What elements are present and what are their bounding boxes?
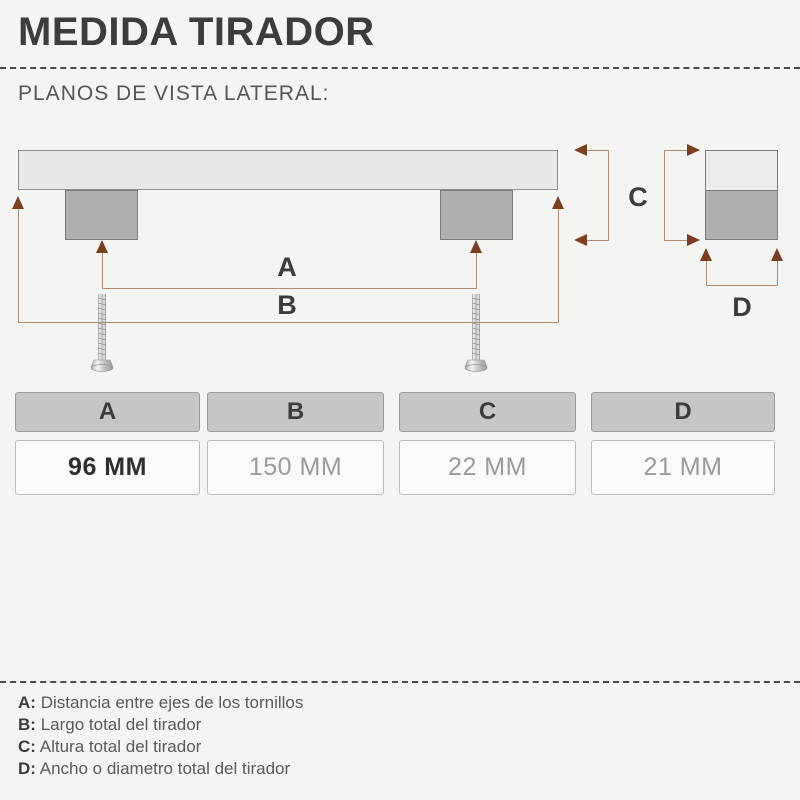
legend-item: A: Distancia entre ejes de los tornillos [18, 692, 303, 714]
measurement-sheet: MEDIDA TIRADOR PLANOS DE VISTA LATERAL: [0, 0, 800, 800]
legend-key-b: B: [18, 715, 36, 734]
screw-left [89, 294, 115, 376]
page-title: MEDIDA TIRADOR [18, 10, 375, 55]
dim-c-arm-top [585, 150, 609, 151]
dim-d-leader-right [777, 260, 778, 286]
table-value-d[interactable]: 21 MM [591, 440, 775, 495]
divider-top [0, 67, 800, 69]
legend-key-d: D: [18, 759, 36, 778]
dim-d-arm-top [664, 150, 688, 151]
dim-a-leader-right [476, 252, 477, 289]
legend-item: C: Altura total del tirador [18, 736, 303, 758]
dim-c-arrow-bottom [574, 234, 587, 246]
legend-key-a: A: [18, 693, 36, 712]
legend-item: B: Largo total del tirador [18, 714, 303, 736]
dim-c-line [608, 150, 609, 241]
handle-side-leg [705, 190, 778, 240]
table-value-a[interactable]: 96 MM [15, 440, 200, 495]
divider-bottom [0, 681, 800, 683]
dim-b-arrow-left [12, 196, 24, 209]
dim-a-leader-left [102, 252, 103, 289]
handle-leg-left [65, 190, 138, 240]
legend-text-b: Largo total del tirador [41, 715, 202, 734]
dim-a-arrow-right [470, 240, 482, 253]
table-header-d: D [591, 392, 775, 432]
dim-d-arrow-bottom [687, 234, 700, 246]
dim-a-line [102, 288, 477, 289]
legend-text-a: Distancia entre ejes de los tornillos [41, 693, 304, 712]
table-header-c: C [399, 392, 576, 432]
handle-leg-right [440, 190, 513, 240]
table-header-b: B [207, 392, 384, 432]
screw-right [463, 294, 489, 376]
dim-d-leader-vertical [664, 150, 665, 241]
dim-a-label: A [265, 252, 309, 283]
table-value-c[interactable]: 22 MM [399, 440, 576, 495]
dim-a-arrow-left [96, 240, 108, 253]
table-value-b[interactable]: 150 MM [207, 440, 384, 495]
dim-c-arrow-top [574, 144, 587, 156]
table-header-a: A [15, 392, 200, 432]
dim-d-arrow-right [771, 248, 783, 261]
legend-key-c: C: [18, 737, 36, 756]
dim-b-leader-left [18, 208, 19, 323]
page-subtitle: PLANOS DE VISTA LATERAL: [18, 82, 330, 106]
dim-b-leader-right [558, 208, 559, 323]
dim-b-label: B [265, 290, 309, 321]
dim-b-arrow-right [552, 196, 564, 209]
dim-c-arm-bottom [585, 240, 609, 241]
dim-d-label: D [720, 292, 764, 323]
legend: A: Distancia entre ejes de los tornillos… [18, 692, 303, 780]
handle-bar-front [18, 150, 558, 190]
dim-b-line [18, 322, 559, 323]
dim-d-leader-left [706, 260, 707, 286]
legend-text-d: Ancho o diametro total del tirador [40, 759, 290, 778]
legend-item: D: Ancho o diametro total del tirador [18, 758, 303, 780]
dim-c-label: C [620, 182, 656, 213]
legend-text-c: Altura total del tirador [40, 737, 202, 756]
dim-d-arrow-left [700, 248, 712, 261]
dim-d-line [706, 285, 778, 286]
dim-d-arm-bottom [664, 240, 688, 241]
dim-d-arrow-top [687, 144, 700, 156]
